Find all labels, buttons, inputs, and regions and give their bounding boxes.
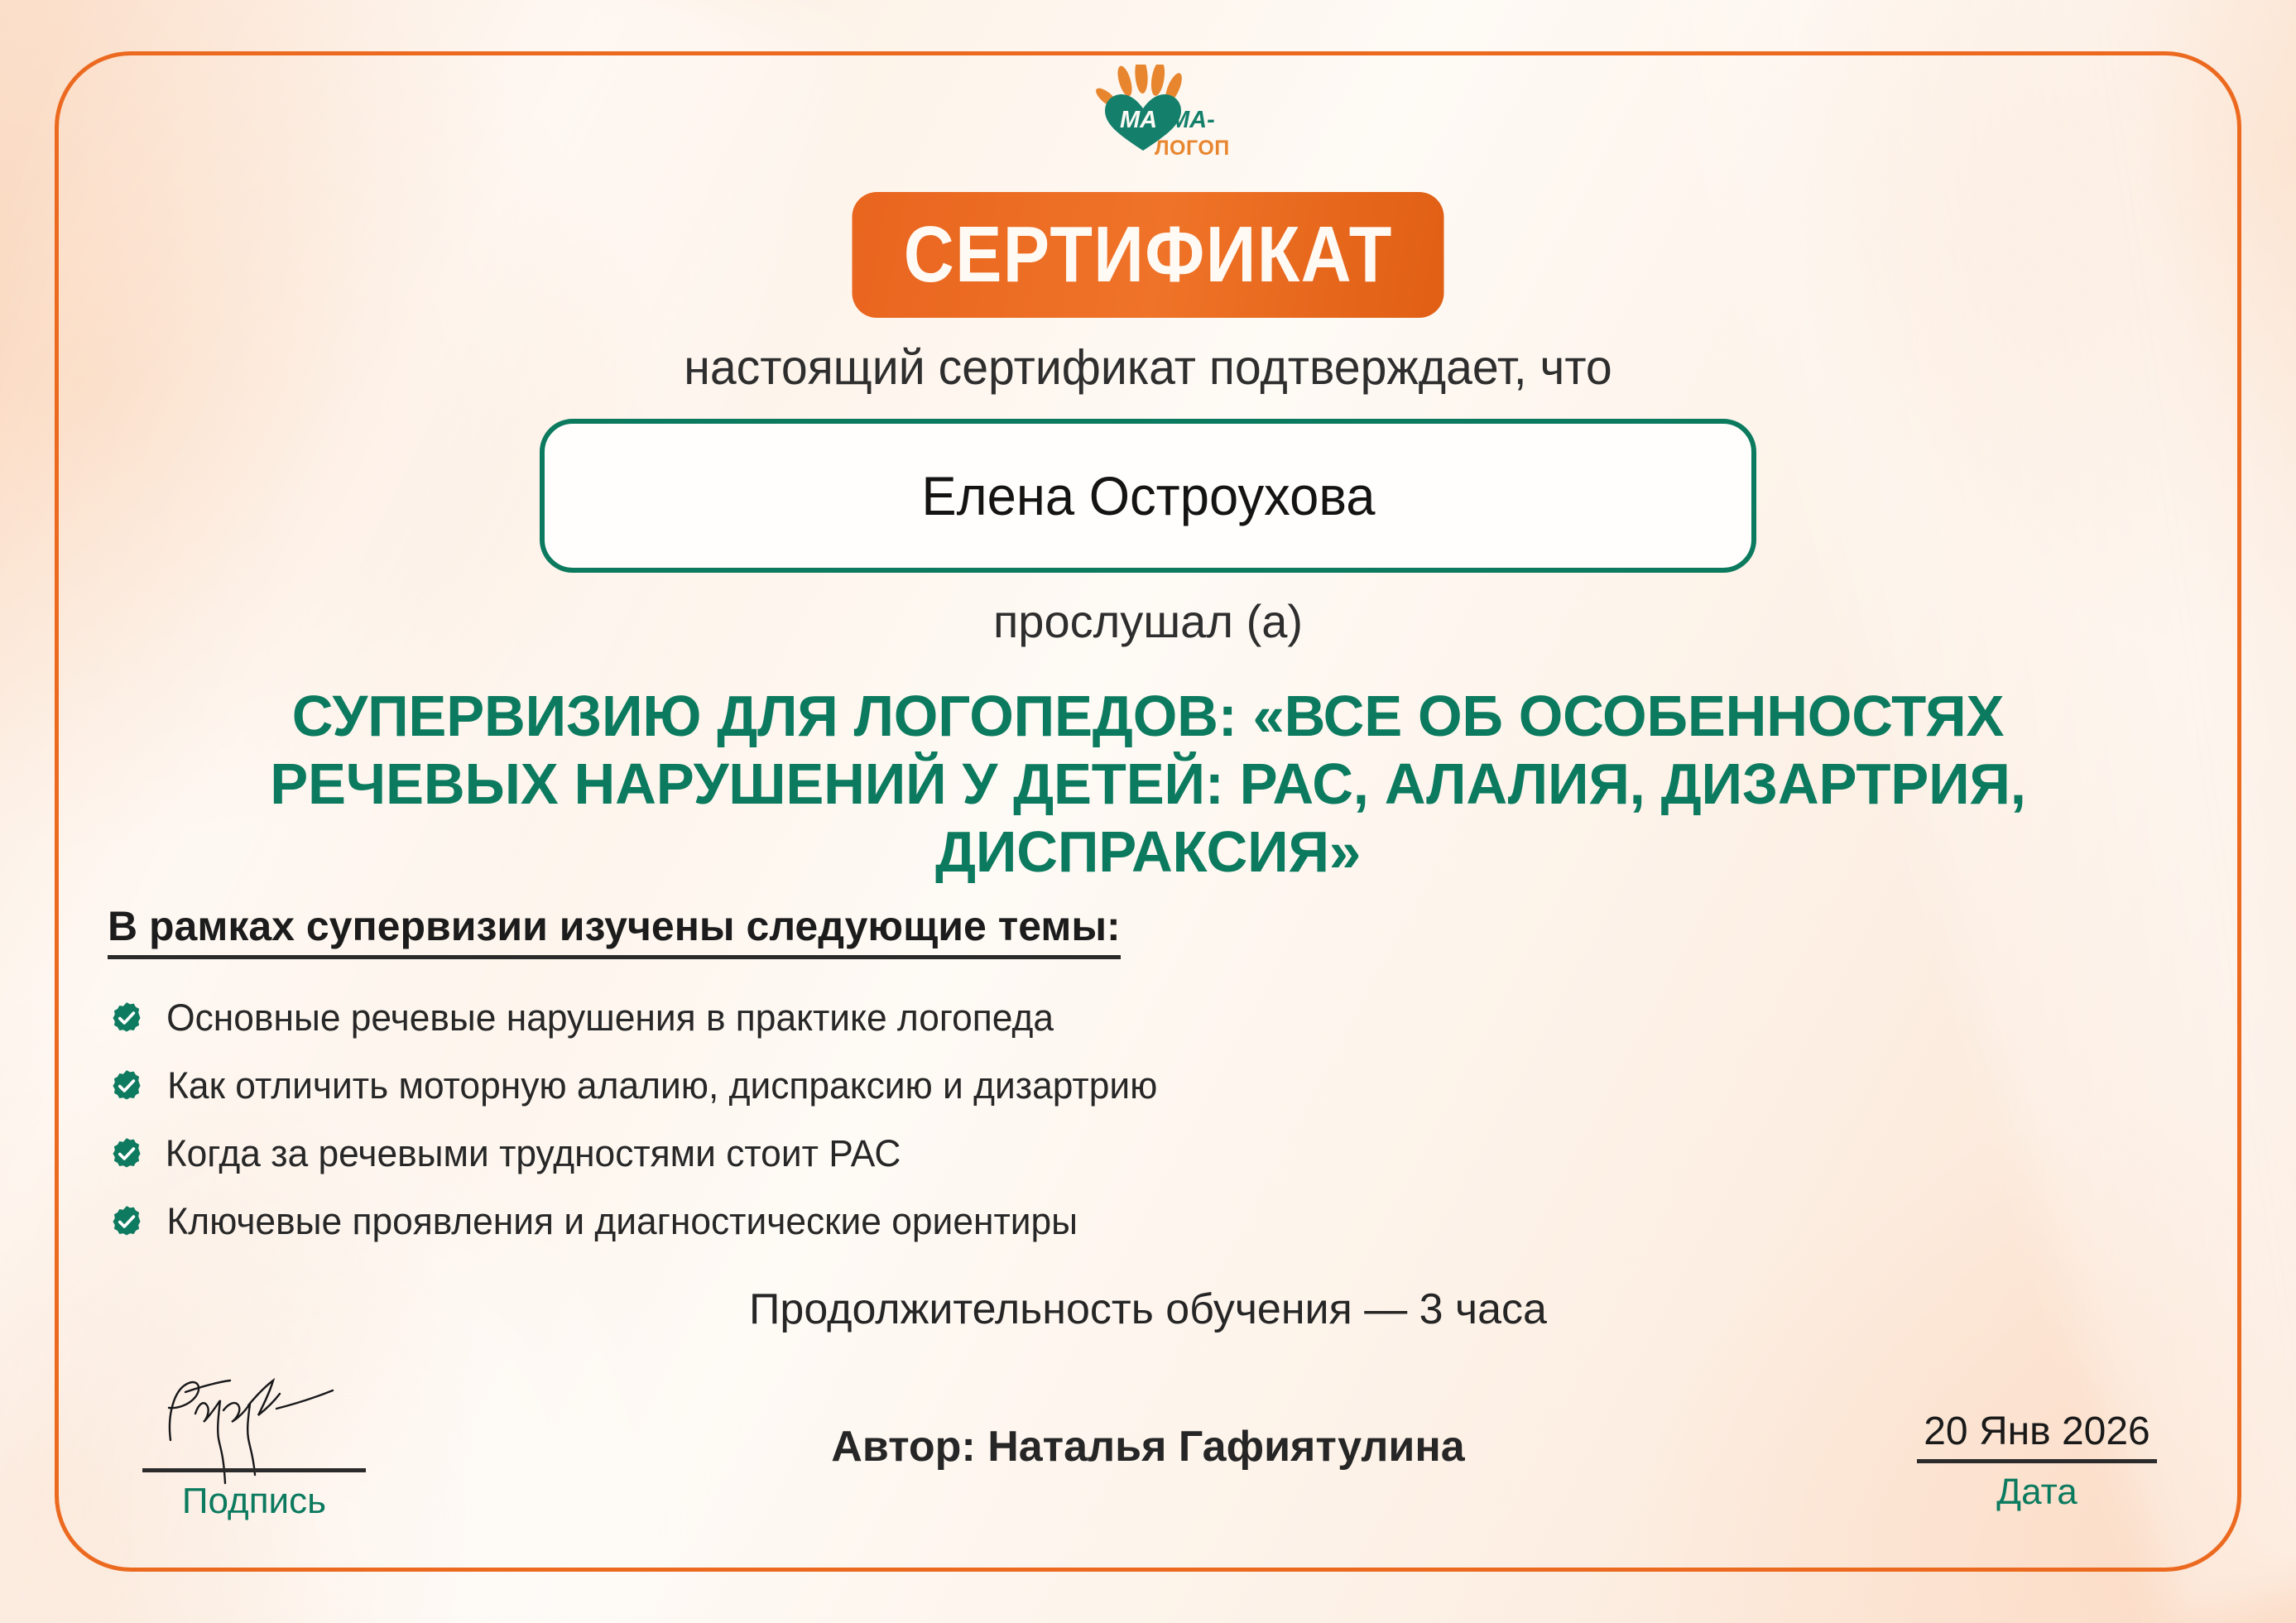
confirmation-line: настоящий сертификат подтверждает, что [35,339,2262,396]
list-item-label: Основные речевые нарушения в практике ло… [166,996,1054,1040]
listened-line: прослушал (а) [0,594,2296,648]
svg-text:ЛОГОПЕД: ЛОГОПЕД [1155,137,1231,160]
check-badge-icon [109,1068,144,1103]
list-item: Основные речевые нарушения в практике ло… [109,997,1165,1038]
list-item-label: Ключевые проявления и диагностические ор… [166,1200,1078,1243]
list-item-label: Когда за речевыми трудностями стоит РАС [166,1132,901,1175]
badge-label: СЕРТИФИКАТ [904,215,1393,295]
course-duration: Продолжительность обучения — 3 часа [0,1284,2296,1334]
issue-date: 20 Янв 2026 [1917,1409,2157,1454]
svg-text:МА-: МА- [1170,107,1215,133]
check-badge-icon [109,1136,144,1171]
topics-list: Основные речевые нарушения в практике ло… [109,997,1165,1241]
recipient-name: Елена Остроухова [921,464,1375,527]
topics-heading: В рамках супервизии изучены следующие те… [108,902,1121,959]
date-rule [1917,1459,2157,1463]
course-title: СУПЕРВИЗИЮ ДЛЯ ЛОГОПЕДОВ: «ВСЕ ОБ ОСОБЕН… [156,683,2140,886]
date-block: 20 Янв 2026 Дата [1917,1409,2157,1513]
list-item: Когда за речевыми трудностями стоит РАС [109,1133,1165,1174]
certificate-page: МА МА- ЛОГОПЕД СЕРТИФИКАТ настоящий серт… [0,0,2296,1623]
list-item: Как отличить моторную алалию, диспраксию… [109,1065,1165,1106]
status-badge: СЕРТИФИКАТ [853,192,1444,318]
recipient-name-field: Елена Остроухова [540,419,1756,573]
list-item-label: Как отличить моторную алалию, диспраксию… [167,1064,1157,1107]
hand-heart-logo-icon: МА МА- ЛОГОПЕД [1065,65,1231,166]
date-label: Дата [1917,1472,2157,1513]
svg-text:МА: МА [1120,107,1157,133]
signature-rule [142,1468,366,1472]
list-item: Ключевые проявления и диагностические ор… [109,1201,1165,1241]
check-badge-icon [109,1001,144,1035]
check-badge-icon [109,1204,144,1239]
certificate-content: МА МА- ЛОГОПЕД СЕРТИФИКАТ настоящий серт… [0,0,2296,1623]
